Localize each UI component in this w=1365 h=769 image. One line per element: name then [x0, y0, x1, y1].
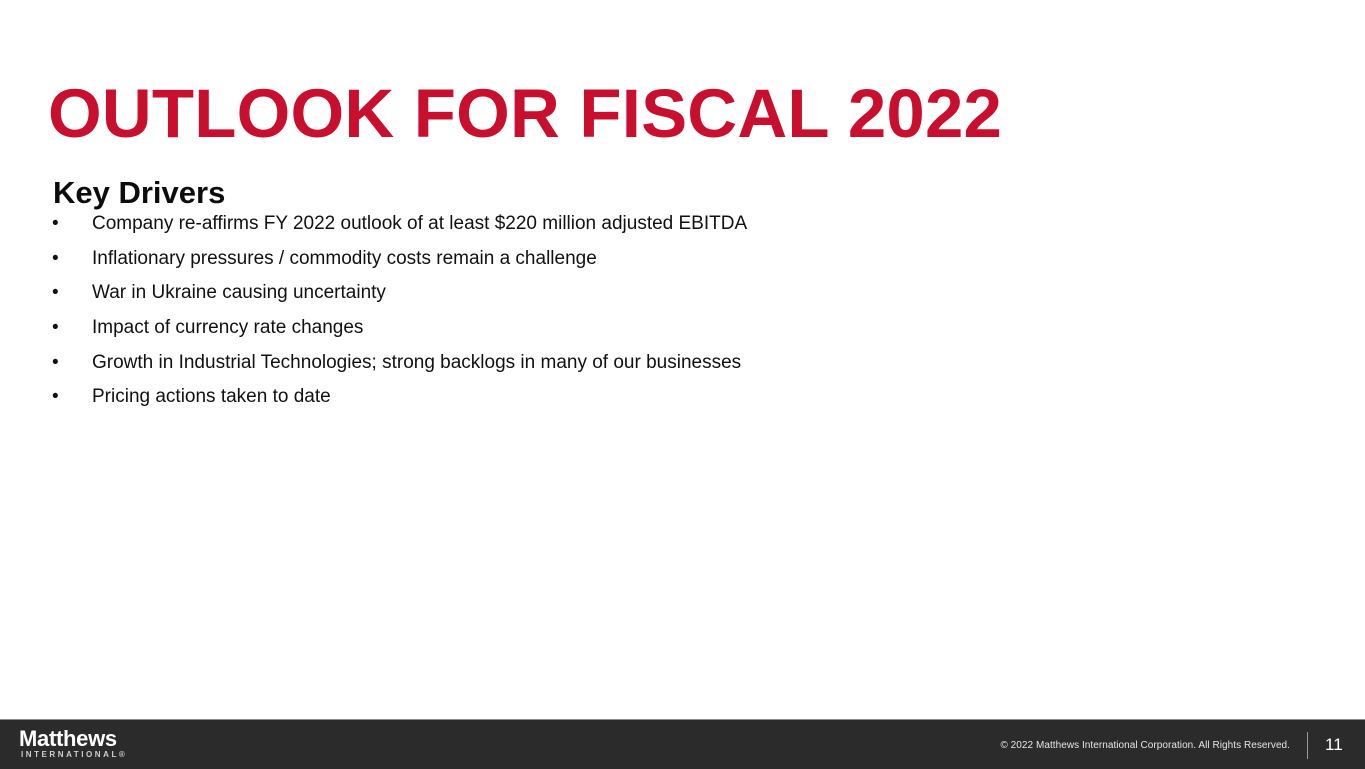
list-item-label: Impact of currency rate changes [92, 315, 363, 340]
list-item: • Impact of currency rate changes [0, 315, 1300, 350]
list-item: • Company re-affirms FY 2022 outlook of … [0, 211, 1300, 246]
company-logo: Matthews INTERNATIONAL® [19, 728, 209, 760]
list-item: • Inflationary pressures / commodity cos… [0, 246, 1300, 281]
bullet-point-icon: • [52, 315, 62, 340]
footer-right-group: © 2022 Matthews International Corporatio… [1000, 720, 1365, 769]
list-item: • War in Ukraine causing uncertainty [0, 280, 1300, 315]
logo-wordmark: Matthews [19, 728, 209, 750]
list-item-label: Growth in Industrial Technologies; stron… [92, 350, 741, 375]
bullet-point-icon: • [52, 384, 62, 409]
list-item: • Growth in Industrial Technologies; str… [0, 350, 1300, 385]
bullet-point-icon: • [52, 280, 62, 305]
page-title: OUTLOOK FOR FISCAL 2022 [48, 79, 1002, 148]
slide-footer: Matthews INTERNATIONAL® © 2022 Matthews … [0, 719, 1365, 769]
list-item-label: Company re-affirms FY 2022 outlook of at… [92, 211, 747, 236]
bullet-point-icon: • [52, 211, 62, 236]
presentation-slide: OUTLOOK FOR FISCAL 2022 Key Drivers • Co… [0, 0, 1365, 769]
section-heading: Key Drivers [53, 176, 225, 210]
key-drivers-list: • Company re-affirms FY 2022 outlook of … [0, 211, 1300, 419]
page-number: 11 [1325, 735, 1365, 755]
footer-divider [1307, 732, 1308, 759]
bullet-point-icon: • [52, 246, 62, 271]
list-item-label: Pricing actions taken to date [92, 384, 331, 409]
bullet-point-icon: • [52, 350, 62, 375]
copyright-notice: © 2022 Matthews International Corporatio… [1000, 740, 1290, 751]
list-item-label: Inflationary pressures / commodity costs… [92, 246, 597, 271]
logo-tagline: INTERNATIONAL® [19, 751, 209, 760]
list-item: • Pricing actions taken to date [0, 384, 1300, 419]
list-item-label: War in Ukraine causing uncertainty [92, 280, 386, 305]
